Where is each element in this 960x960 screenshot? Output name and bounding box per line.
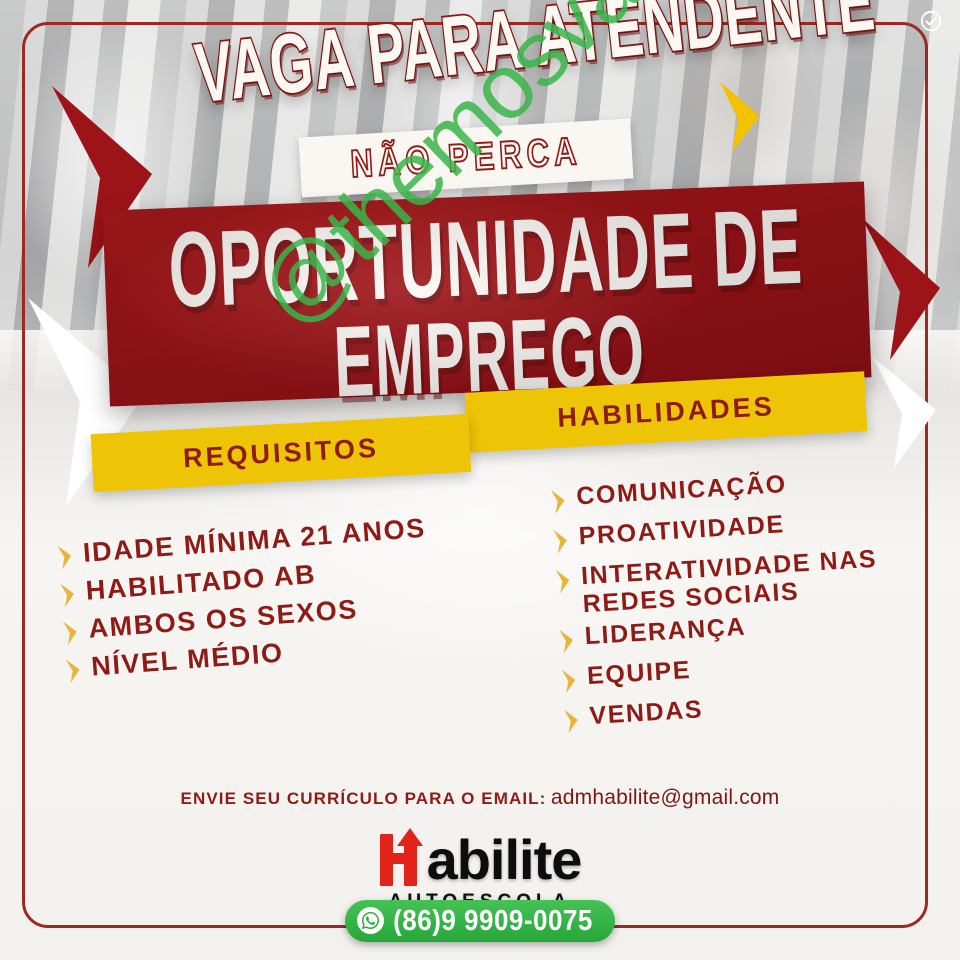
email-cta: ENVIE SEU CURRÍCULO PARA O EMAIL: admhab… bbox=[0, 786, 960, 810]
chevron-right-white-icon-2 bbox=[868, 352, 940, 472]
whatsapp-phone-badge[interactable]: (86)9 9909-0075 bbox=[345, 900, 615, 942]
bullet-chevron-icon bbox=[554, 568, 573, 600]
bullet-chevron-icon bbox=[557, 628, 576, 660]
bullet-chevron-icon bbox=[551, 528, 570, 560]
chevron-right-red-icon-2 bbox=[858, 214, 944, 364]
email-cta-lead: ENVIE SEU CURRÍCULO PARA O EMAIL: bbox=[181, 789, 547, 808]
habilidades-list: COMUNICAÇÃO PROATIVIDADE INTERATIVIDADE … bbox=[549, 460, 960, 743]
list-item-label: LIDERANÇA bbox=[584, 613, 747, 651]
brand-logo-row: abilite bbox=[379, 828, 582, 886]
brand-name: abilite bbox=[427, 834, 582, 886]
whatsapp-icon bbox=[357, 907, 384, 934]
chevron-right-yellow-icon bbox=[716, 78, 764, 156]
phone-number: (86)9 9909-0075 bbox=[393, 903, 593, 938]
job-ad-poster: VAGA PARA ATENDENTE NÃO PERCA OPORTUNIDA… bbox=[0, 0, 960, 960]
bullet-chevron-icon bbox=[58, 582, 77, 614]
list-item-label: EQUIPE bbox=[586, 656, 692, 690]
email-address[interactable]: admhabilite@gmail.com bbox=[551, 786, 780, 809]
requisitos-list: IDADE MÍNIMA 21 ANOS HABILITADO AB AMBOS… bbox=[55, 508, 495, 691]
bullet-chevron-icon bbox=[560, 668, 579, 700]
bullet-chevron-icon bbox=[562, 708, 581, 740]
check-circle-icon bbox=[920, 10, 942, 32]
bullet-chevron-icon bbox=[61, 619, 80, 651]
section-heading-requisitos-text: REQUISITOS bbox=[182, 432, 379, 474]
section-heading-habilidades-text: HABILIDADES bbox=[557, 391, 776, 434]
bullet-chevron-icon bbox=[55, 544, 74, 576]
main-title-slab: OPORTUNIDADE DE EMPREGO bbox=[103, 181, 872, 406]
list-item-label: VENDAS bbox=[589, 695, 704, 730]
bullet-chevron-icon bbox=[64, 657, 83, 689]
bullet-chevron-icon bbox=[549, 488, 568, 520]
phone-cta: (86)9 9909-0075 bbox=[0, 900, 960, 942]
logo-h-arrow-icon bbox=[379, 828, 425, 886]
nao-perca-text: NÃO PERCA bbox=[349, 129, 582, 187]
main-title-line-1: OPORTUNIDADE DE bbox=[118, 190, 853, 325]
